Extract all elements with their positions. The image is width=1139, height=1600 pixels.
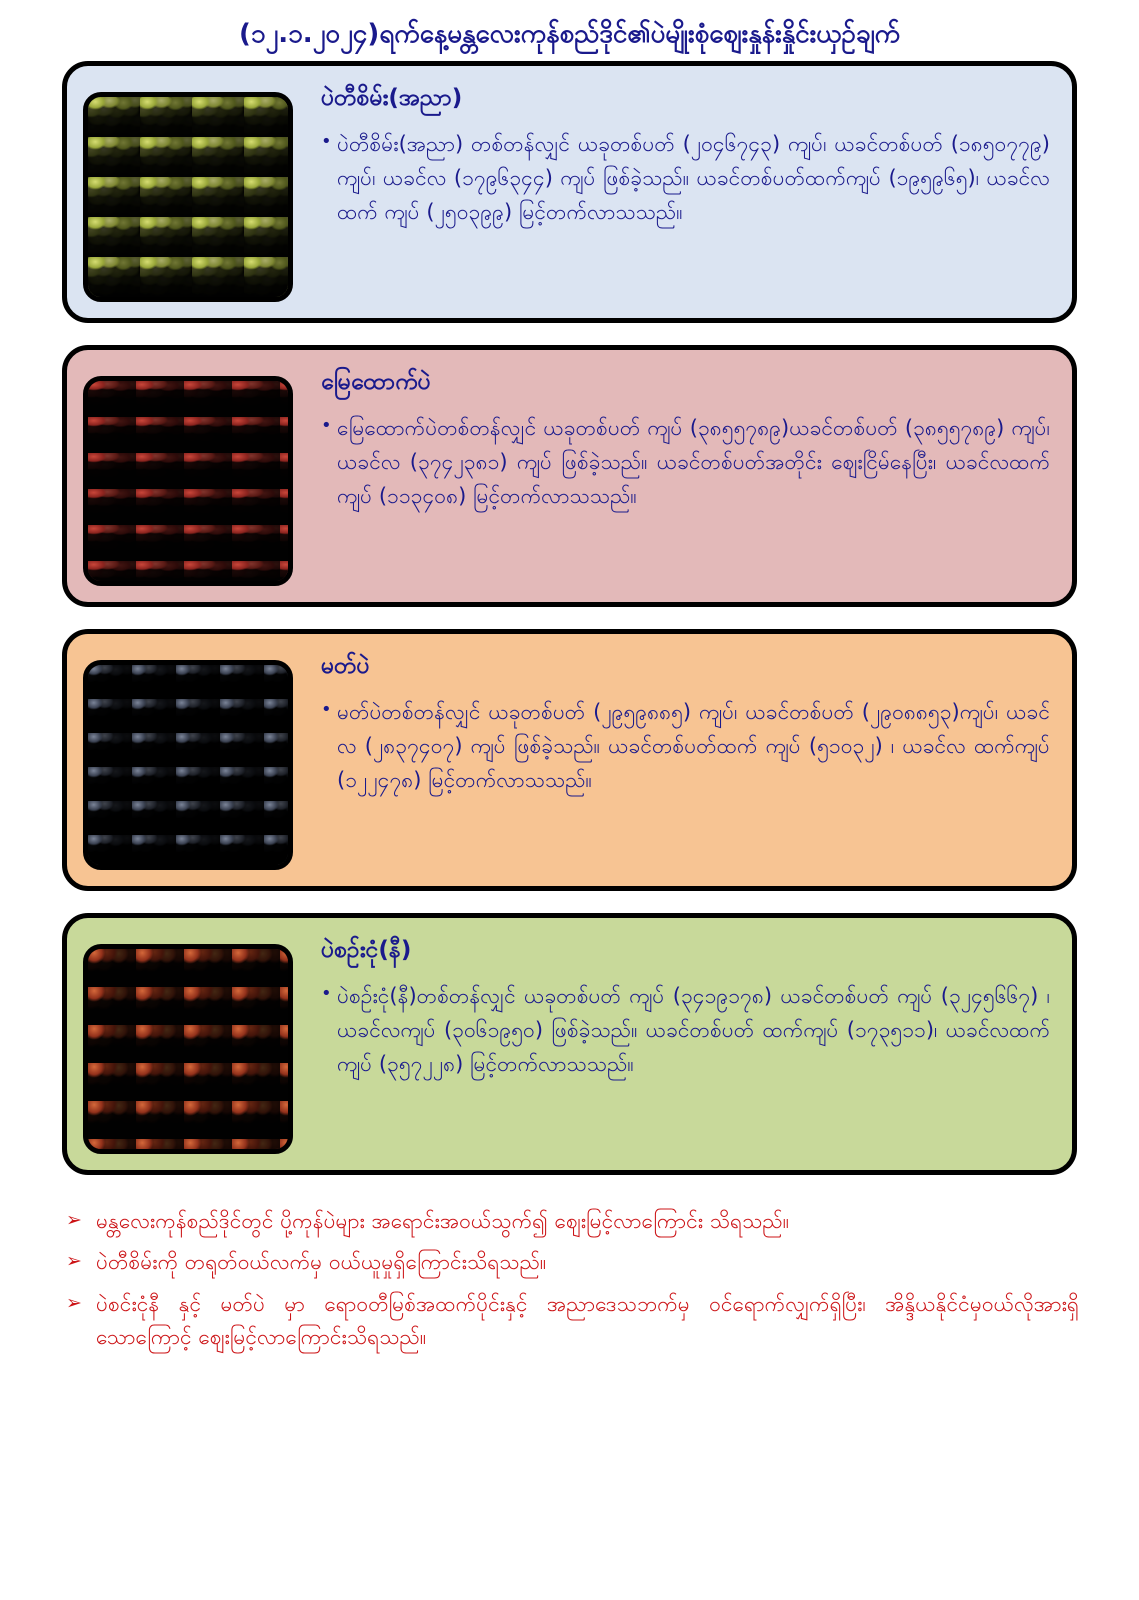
note-text-3: ပဲစင်းငုံနီ နှင့် မတ်ပဲ မှာ ရောဝတီမြစ်အထ…: [96, 1288, 1079, 1355]
arrow-right-icon: ➢: [66, 1205, 96, 1235]
note-item: ➢ ပဲစင်းငုံနီ နှင့် မတ်ပဲ မှာ ရောဝတီမြစ်…: [66, 1288, 1079, 1355]
note-text-1: မန္တလေးကုန်စည်ဒိုင်တွင် ပို့ကုန်ပဲများ အ…: [96, 1205, 1079, 1239]
bullet-dot-icon: •: [321, 979, 337, 1008]
red-kidney-beans-photo: [83, 376, 293, 586]
bean-texture: [88, 97, 288, 297]
card-text-mat-pe: မတ်ပဲတစ်တန်လျှင် ယခုတစ်ပတ် (၂၉၅၉၈၈၅) ကျပ…: [337, 695, 1050, 797]
card-title-pe-ti-sein: ပဲတီစိမ်း(အညာ): [321, 84, 1050, 114]
arrow-right-icon: ➢: [66, 1246, 96, 1276]
card-bullet: • မြေထောက်ပဲတစ်တန်လျှင် ယခုတစ်ပတ် ကျပ် (…: [321, 411, 1050, 513]
bean-card-mye-htauk-pe: မြေထောက်ပဲ • မြေထောက်ပဲတစ်တန်လျှင် ယခုတစ…: [62, 345, 1077, 607]
card-body: ပဲတီစိမ်း(အညာ) • ပဲတီစိမ်း(အညာ) တစ်တန်လျ…: [293, 80, 1056, 230]
card-text-pe-sin-ngone-ni: ပဲစဉ်းငုံ(နီ)တစ်တန်လျှင် ယခုတစ်ပတ် ကျပ် …: [337, 979, 1050, 1081]
bean-cards-list: ပဲတီစိမ်း(အညာ) • ပဲတီစိမ်း(အညာ) တစ်တန်လျ…: [0, 61, 1139, 1175]
bean-texture: [88, 665, 288, 865]
footer-notes: ➢ မန္တလေးကုန်စည်ဒိုင်တွင် ပို့ကုန်ပဲများ…: [0, 1175, 1139, 1355]
page-title: (၁၂.၁.၂၀၂၄)ရက်နေ့မန္တလေးကုန်စည်ဒိုင်၏ပဲမ…: [0, 0, 1139, 61]
card-bullet: • ပဲတီစိမ်း(အညာ) တစ်တန်လျှင် ယခုတစ်ပတ် (…: [321, 127, 1050, 229]
bullet-dot-icon: •: [321, 411, 337, 440]
card-body: မြေထောက်ပဲ • မြေထောက်ပဲတစ်တန်လျှင် ယခုတစ…: [293, 364, 1056, 514]
card-title-mat-pe: မတ်ပဲ: [321, 652, 1050, 682]
bullet-dot-icon: •: [321, 695, 337, 724]
bean-texture: [88, 949, 288, 1149]
bean-card-mat-pe: မတ်ပဲ • မတ်ပဲတစ်တန်လျှင် ယခုတစ်ပတ် (၂၉၅၉…: [62, 629, 1077, 891]
card-text-mye-htauk-pe: မြေထောက်ပဲတစ်တန်လျှင် ယခုတစ်ပတ် ကျပ် (၃၈…: [337, 411, 1050, 513]
card-text-pe-ti-sein: ပဲတီစိမ်း(အညာ) တစ်တန်လျှင် ယခုတစ်ပတ် (၂၀…: [337, 127, 1050, 229]
card-bullet: • ပဲစဉ်းငုံ(နီ)တစ်တန်လျှင် ယခုတစ်ပတ် ကျပ…: [321, 979, 1050, 1081]
card-bullet: • မတ်ပဲတစ်တန်လျှင် ယခုတစ်ပတ် (၂၉၅၉၈၈၅) က…: [321, 695, 1050, 797]
report-page: (၁၂.၁.၂၀၂၄)ရက်နေ့မန္တလေးကုန်စည်ဒိုင်၏ပဲမ…: [0, 0, 1139, 1600]
arrow-right-icon: ➢: [66, 1288, 96, 1318]
green-mung-beans-photo: [83, 92, 293, 302]
note-item: ➢ ပဲတီစိမ်းကို တရုတ်ဝယ်လက်မှ ဝယ်ယူမှုရှိ…: [66, 1246, 1079, 1280]
note-text-2: ပဲတီစိမ်းကို တရုတ်ဝယ်လက်မှ ဝယ်ယူမှုရှိကြ…: [96, 1246, 1079, 1280]
bean-card-pe-sin-ngone-ni: ပဲစဉ်းငုံ(နီ) • ပဲစဉ်းငုံ(နီ)တစ်တန်လျှင်…: [62, 913, 1077, 1175]
card-title-pe-sin-ngone-ni: ပဲစဉ်းငုံ(နီ): [321, 936, 1050, 966]
card-body: မတ်ပဲ • မတ်ပဲတစ်တန်လျှင် ယခုတစ်ပတ် (၂၉၅၉…: [293, 648, 1056, 798]
card-body: ပဲစဉ်းငုံ(နီ) • ပဲစဉ်းငုံ(နီ)တစ်တန်လျှင်…: [293, 932, 1056, 1082]
bean-card-pe-ti-sein: ပဲတီစိမ်း(အညာ) • ပဲတီစိမ်း(အညာ) တစ်တန်လျ…: [62, 61, 1077, 323]
red-cowpea-beans-photo: [83, 944, 293, 1154]
bean-texture: [88, 381, 288, 581]
card-title-mye-htauk-pe: မြေထောက်ပဲ: [321, 368, 1050, 398]
black-gram-beans-photo: [83, 660, 293, 870]
bullet-dot-icon: •: [321, 127, 337, 156]
note-item: ➢ မန္တလေးကုန်စည်ဒိုင်တွင် ပို့ကုန်ပဲများ…: [66, 1205, 1079, 1239]
